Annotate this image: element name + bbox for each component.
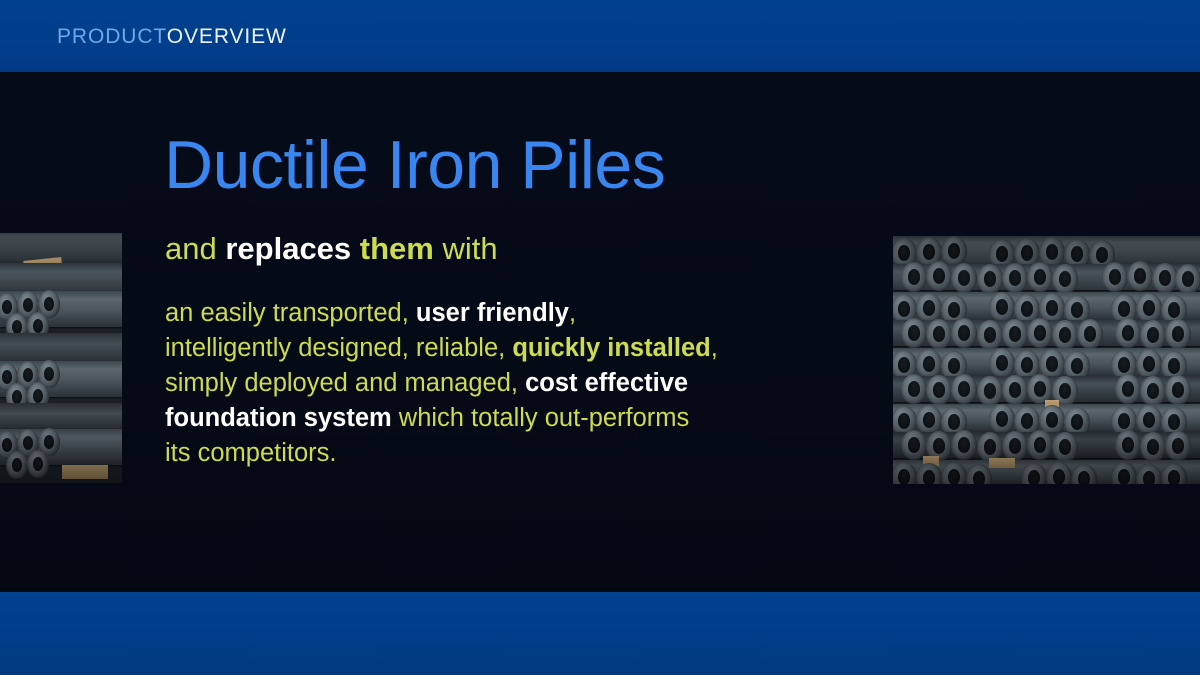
para-text-2a: intelligently designed, reliable,: [165, 334, 512, 362]
subhead-them: them: [360, 231, 443, 266]
header-word-product: PRODUCT: [57, 25, 167, 48]
header-title: PRODUCTOVERVIEW: [57, 25, 287, 49]
paragraph-line-3: simply deployed and managed, cost effect…: [165, 366, 865, 401]
paragraph-line-2: intelligently designed, reliable, quickl…: [165, 331, 865, 366]
para-bold-foundation-system: foundation system: [165, 404, 392, 432]
para-text-2c: ,: [711, 334, 718, 362]
para-text-3a: simply deployed and managed,: [165, 369, 525, 397]
footer-bar: piles of innovation in the caribbean CMS…: [0, 592, 1200, 675]
para-bold-user-friendly: user friendly: [416, 299, 569, 327]
subhead-and: and: [165, 231, 225, 266]
subhead-replaces: replaces: [225, 231, 359, 266]
paragraph-line-1: an easily transported, user friendly,: [165, 296, 865, 331]
header-bar: PRODUCTOVERVIEW: [0, 0, 1200, 72]
header-word-overview: OVERVIEW: [167, 25, 287, 48]
pipes-photo-right: [893, 236, 1200, 484]
paragraph-line-4: foundation system which totally out-perf…: [165, 401, 865, 436]
subhead-with: with: [442, 231, 497, 266]
para-text-5a: its competitors.: [165, 439, 336, 467]
para-bold-quickly-installed: quickly installed: [512, 334, 710, 362]
para-text-4b: which totally out-performs: [392, 404, 690, 432]
para-text-1a: an easily transported,: [165, 299, 416, 327]
subheadline: and replaces them with: [165, 230, 498, 269]
paragraph-line-5: its competitors.: [165, 436, 865, 471]
para-text-1c: ,: [569, 299, 576, 327]
pipes-photo-left: [0, 233, 122, 483]
slide: PRODUCTOVERVIEW: [0, 0, 1200, 675]
para-bold-cost-effective: cost effective: [525, 369, 688, 397]
body-paragraph: an easily transported, user friendly, in…: [165, 296, 865, 471]
page-title: Ductile Iron Piles: [164, 130, 665, 201]
